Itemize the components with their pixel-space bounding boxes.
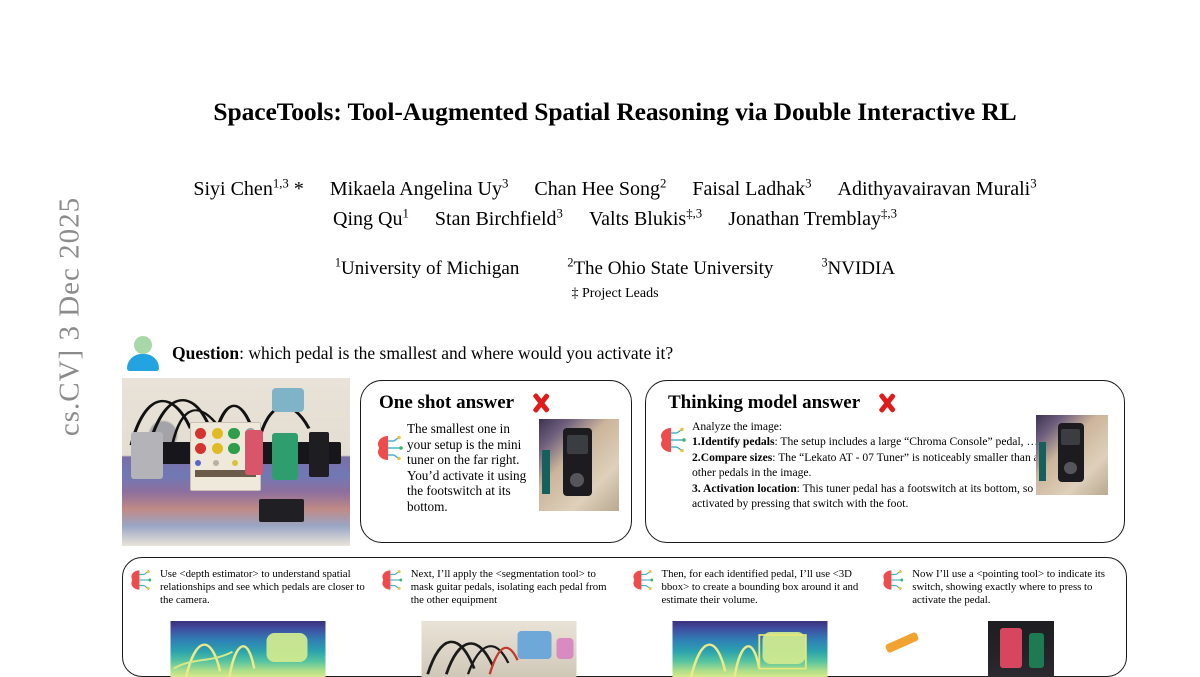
pointing-image bbox=[988, 621, 1054, 677]
green-pedal-closeup bbox=[1029, 633, 1045, 668]
blue-box-object bbox=[272, 388, 304, 412]
arxiv-stamp-text: cs.CV] 3 Dec 2025 bbox=[54, 37, 87, 597]
thinking-step-text: : The setup includes a large “Chroma Con… bbox=[774, 435, 1040, 448]
avatar-body bbox=[127, 354, 159, 371]
knob bbox=[228, 443, 239, 454]
bbox-overlay-icon bbox=[672, 621, 827, 677]
thinking-title-row: Thinking model answer bbox=[668, 390, 900, 416]
tool-step-3d-bbox: Then, for each identified pedal, I’ll us… bbox=[625, 558, 876, 676]
tool-step-header: Then, for each identified pedal, I’ll us… bbox=[631, 568, 868, 608]
knob bbox=[195, 428, 206, 439]
author-affil-sup: 3 bbox=[557, 206, 563, 220]
author-entry: Mikaela Angelina Uy3 bbox=[330, 178, 509, 200]
one-shot-tuner-photo bbox=[539, 419, 619, 511]
tool-step-header: Next, I’ll apply the <segmentation tool>… bbox=[380, 568, 617, 608]
author-entry: Siyi Chen1,3 * bbox=[193, 178, 303, 200]
mini-tuner-pedal bbox=[309, 432, 330, 477]
tool-step-header: Use <depth estimator> to understand spat… bbox=[129, 568, 366, 608]
author-name: Siyi Chen bbox=[193, 178, 272, 200]
affiliation-entry: 1University of Michigan bbox=[335, 258, 519, 279]
segment-mask-blue bbox=[518, 631, 552, 659]
author-name: Adithyavairavan Murali bbox=[838, 178, 1031, 200]
author-entry: Qing Qu1 bbox=[333, 208, 409, 230]
tool-step-depth-estimator: Use <depth estimator> to understand spat… bbox=[123, 558, 374, 676]
project-leads-note: ‡ Project Leads bbox=[110, 286, 1120, 302]
tuner-screen bbox=[567, 435, 588, 454]
knob bbox=[195, 460, 201, 466]
knob bbox=[195, 443, 206, 454]
user-avatar-icon bbox=[126, 334, 160, 372]
segmentation-image bbox=[422, 621, 577, 677]
tool-step-text: Now I’ll use a <pointing tool> to indica… bbox=[912, 568, 1118, 608]
thinking-step: 3. Activation location: This tuner pedal… bbox=[692, 481, 1070, 512]
author-star: * bbox=[294, 178, 304, 200]
author-affil-sup: 1 bbox=[402, 206, 408, 220]
brain-icon bbox=[380, 568, 404, 592]
tool-step-text: Next, I’ll apply the <segmentation tool>… bbox=[411, 568, 617, 608]
tuner-device bbox=[1058, 423, 1084, 482]
one-shot-title-row: One shot answer bbox=[379, 390, 554, 416]
tuner-footswitch bbox=[570, 473, 584, 487]
author-entry: Chan Hee Song2 bbox=[534, 178, 666, 200]
thinking-tuner-photo bbox=[1036, 415, 1108, 495]
teal-edge bbox=[542, 450, 550, 494]
author-name: Jonathan Tremblay bbox=[728, 208, 881, 230]
tool-step-pointing: Now I’ll use a <pointing tool> to indica… bbox=[875, 558, 1126, 676]
thinking-body: Analyze the image: 1.Identify pedals: Th… bbox=[692, 419, 1070, 511]
knob bbox=[213, 460, 219, 466]
author-affil-sup: ‡,3 bbox=[881, 206, 897, 220]
thinking-step-label: 2.Compare sizes bbox=[692, 451, 772, 464]
tool-step-segmentation: Next, I’ll apply the <segmentation tool>… bbox=[374, 558, 625, 676]
question-content: : which pedal is the smallest and where … bbox=[239, 343, 673, 363]
knob bbox=[228, 428, 239, 439]
tool-steps-grid: Use <depth estimator> to understand spat… bbox=[123, 558, 1126, 676]
one-shot-body: The smallest one in your setup is the mi… bbox=[407, 421, 529, 514]
author-line-2: Qing Qu1Stan Birchfield3Valts Blukis‡,3J… bbox=[110, 208, 1120, 231]
arxiv-stamp: cs.CV] 3 Dec 2025 bbox=[0, 0, 110, 648]
affiliation-name: University of Michigan bbox=[341, 258, 519, 279]
thinking-step: 2.Compare sizes: The “Lekato AT - 07 Tun… bbox=[692, 450, 1070, 481]
question-row: Question: which pedal is the smallest an… bbox=[126, 333, 1126, 373]
affiliation-entry: 3NVIDIA bbox=[821, 258, 895, 279]
segment-mask-pink bbox=[556, 638, 573, 659]
affiliations: 1University of Michigan2The Ohio State U… bbox=[110, 258, 1120, 280]
page-title: SpaceTools: Tool-Augmented Spatial Reaso… bbox=[110, 97, 1120, 127]
thinking-step: 1.Identify pedals: The setup includes a … bbox=[692, 434, 1070, 449]
red-x-icon bbox=[874, 390, 900, 416]
tuner-footswitch bbox=[1064, 462, 1076, 474]
author-affil-sup: 3 bbox=[502, 176, 508, 190]
thinking-model-answer-card: Thinking model answer Analyze the image:… bbox=[645, 380, 1125, 543]
thinking-step-label: 3. Activation location bbox=[692, 482, 797, 495]
author-name: Stan Birchfield bbox=[435, 208, 557, 230]
knob bbox=[232, 460, 238, 466]
affiliation-name: The Ohio State University bbox=[573, 258, 773, 279]
author-affil-sup: 1,3 bbox=[273, 176, 289, 190]
tuner-device bbox=[563, 428, 592, 496]
author-line-1: Siyi Chen1,3 *Mikaela Angelina Uy3Chan H… bbox=[110, 178, 1120, 201]
author-name: Qing Qu bbox=[333, 208, 402, 230]
tool-steps-panel: Use <depth estimator> to understand spat… bbox=[122, 557, 1127, 677]
avatar-head bbox=[134, 336, 152, 354]
dark-device bbox=[259, 499, 305, 523]
author-affil-sup: ‡,3 bbox=[686, 206, 702, 220]
pointing-arrow-icon bbox=[885, 631, 920, 653]
author-entry: Faisal Ladhak3 bbox=[692, 178, 811, 200]
author-affil-sup: 3 bbox=[805, 176, 811, 190]
affiliation-entry: 2The Ohio State University bbox=[567, 258, 773, 279]
silver-pedal bbox=[131, 432, 163, 479]
teal-edge bbox=[1039, 442, 1046, 480]
green-pedal bbox=[272, 433, 297, 480]
brain-icon bbox=[375, 433, 405, 463]
one-shot-answer-card: One shot answer The smallest one in your… bbox=[360, 380, 632, 543]
author-entry: Jonathan Tremblay‡,3 bbox=[728, 208, 897, 230]
bbox-depth-image bbox=[672, 621, 827, 677]
author-entry: Valts Blukis‡,3 bbox=[589, 208, 702, 230]
author-affil-sup: 3 bbox=[1030, 176, 1036, 190]
wire-overlay-icon bbox=[422, 621, 577, 677]
author-entry: Stan Birchfield3 bbox=[435, 208, 563, 230]
author-name: Valts Blukis bbox=[589, 208, 686, 230]
knob bbox=[212, 443, 223, 454]
knob bbox=[212, 428, 223, 439]
tool-step-header: Now I’ll use a <pointing tool> to indica… bbox=[881, 568, 1118, 608]
author-name: Mikaela Angelina Uy bbox=[330, 178, 502, 200]
brain-icon bbox=[631, 568, 655, 592]
author-name: Chan Hee Song bbox=[534, 178, 660, 200]
one-shot-title: One shot answer bbox=[379, 392, 514, 414]
author-affil-sup: 2 bbox=[660, 176, 666, 190]
author-name: Faisal Ladhak bbox=[692, 178, 805, 200]
tool-step-text: Use <depth estimator> to understand spat… bbox=[160, 568, 366, 608]
tuner-screen bbox=[1061, 429, 1080, 446]
depth-map-image bbox=[171, 621, 326, 677]
author-entry: Adithyavairavan Murali3 bbox=[838, 178, 1037, 200]
question-text: Question: which pedal is the smallest an… bbox=[172, 343, 673, 364]
depth-cable-overlay-icon bbox=[171, 621, 326, 677]
thinking-step-label: 1.Identify pedals bbox=[692, 435, 774, 448]
red-x-icon bbox=[528, 390, 554, 416]
thinking-title: Thinking model answer bbox=[668, 392, 860, 414]
input-pedalboard-photo bbox=[122, 378, 350, 546]
paper-body: SpaceTools: Tool-Augmented Spatial Reaso… bbox=[110, 0, 1200, 648]
brain-icon bbox=[881, 568, 905, 592]
brain-icon bbox=[129, 568, 153, 592]
red-pedal bbox=[245, 430, 263, 475]
thinking-intro: Analyze the image: bbox=[692, 419, 1070, 434]
tool-step-text: Then, for each identified pedal, I’ll us… bbox=[662, 568, 868, 608]
question-label: Question bbox=[172, 343, 239, 363]
affiliation-name: NVIDIA bbox=[828, 258, 896, 279]
brain-icon bbox=[658, 425, 688, 455]
